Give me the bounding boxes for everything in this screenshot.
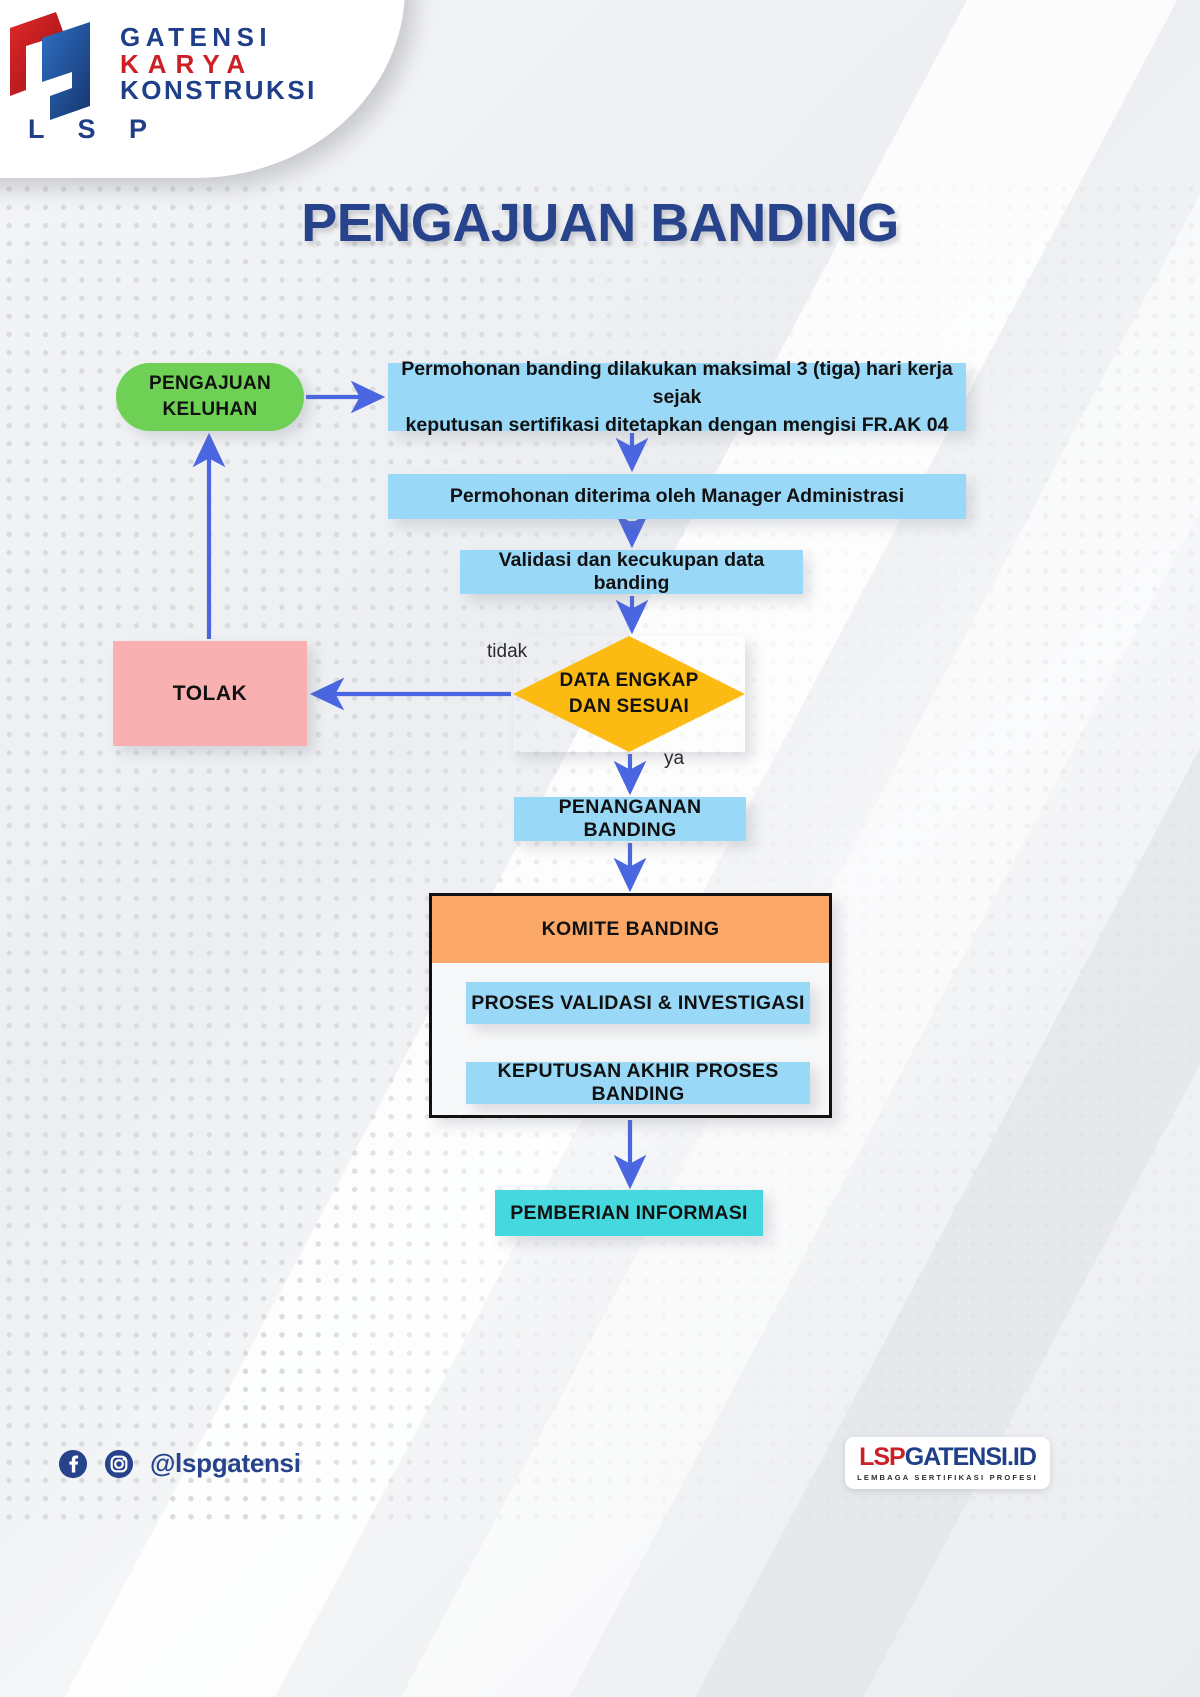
permohonan-line-2: keputusan sertifikasi ditetapkan dengan … — [406, 414, 949, 436]
footer-badge-gatensi: GATENSI.ID — [905, 1443, 1036, 1471]
edge-label-ya: ya — [664, 748, 684, 770]
footer-social: @lspgatensi — [58, 1448, 301, 1479]
node-proses-validasi-investigasi[interactable]: PROSES VALIDASI & INVESTIGASI — [466, 982, 810, 1024]
node-decision-data-lengkap[interactable]: DATA ENGKAP DAN SESUAI — [513, 636, 745, 752]
node-permohonan-banding[interactable]: Permohonan banding dilakukan maksimal 3 … — [388, 363, 966, 431]
node-permohonan-banding-label: Permohonan banding dilakukan maksimal 3 … — [398, 355, 956, 440]
permohonan-line-1: Permohonan banding dilakukan maksimal 3 … — [401, 358, 953, 408]
node-validasi-kecukupan[interactable]: Validasi dan kecukupan data banding — [460, 550, 803, 594]
node-decision-label: DATA ENGKAP DAN SESUAI — [559, 668, 698, 719]
node-komite-banding-label: KOMITE BANDING — [542, 918, 720, 941]
social-handle: @lspgatensi — [150, 1448, 301, 1479]
footer-lspgatensi-badge: LSPGATENSI.ID LEMBAGA SERTIFIKASI PROFES… — [845, 1437, 1050, 1489]
footer-badge-subtitle: LEMBAGA SERTIFIKASI PROFESI — [857, 1473, 1038, 1482]
node-validasi-kecukupan-label: Validasi dan kecukupan data banding — [460, 549, 803, 595]
decision-line-1: DATA ENGKAP — [559, 668, 698, 694]
node-proses-validasi-label: PROSES VALIDASI & INVESTIGASI — [471, 992, 804, 1015]
node-keputusan-akhir-label: KEPUTUSAN AKHIR PROSES BANDING — [466, 1060, 810, 1106]
instagram-icon[interactable] — [104, 1449, 134, 1479]
node-pemberian-informasi-label: PEMBERIAN INFORMASI — [510, 1202, 748, 1225]
footer-badge-lsp: LSP — [859, 1443, 905, 1471]
node-tolak-label: TOLAK — [173, 682, 247, 706]
facebook-icon[interactable] — [58, 1449, 88, 1479]
node-keputusan-akhir[interactable]: KEPUTUSAN AKHIR PROSES BANDING — [466, 1062, 810, 1104]
node-komite-banding[interactable]: KOMITE BANDING — [432, 896, 829, 963]
node-permohonan-diterima[interactable]: Permohonan diterima oleh Manager Adminis… — [388, 474, 966, 519]
node-pemberian-informasi[interactable]: PEMBERIAN INFORMASI — [495, 1190, 763, 1236]
footer-badge-wordmark: LSPGATENSI.ID — [859, 1445, 1036, 1470]
node-penanganan-banding[interactable]: PENANGANAN BANDING — [514, 797, 746, 841]
node-tolak[interactable]: TOLAK — [113, 641, 307, 746]
decision-line-2: DAN SESUAI — [559, 694, 698, 720]
node-penanganan-banding-label: PENANGANAN BANDING — [514, 796, 746, 842]
node-pengajuan-keluhan-label: PENGAJUAN KELUHAN — [149, 371, 271, 422]
edge-label-tidak: tidak — [487, 641, 527, 663]
node-pengajuan-keluhan[interactable]: PENGAJUAN KELUHAN — [116, 363, 304, 431]
node-permohonan-diterima-label: Permohonan diterima oleh Manager Adminis… — [450, 485, 904, 508]
